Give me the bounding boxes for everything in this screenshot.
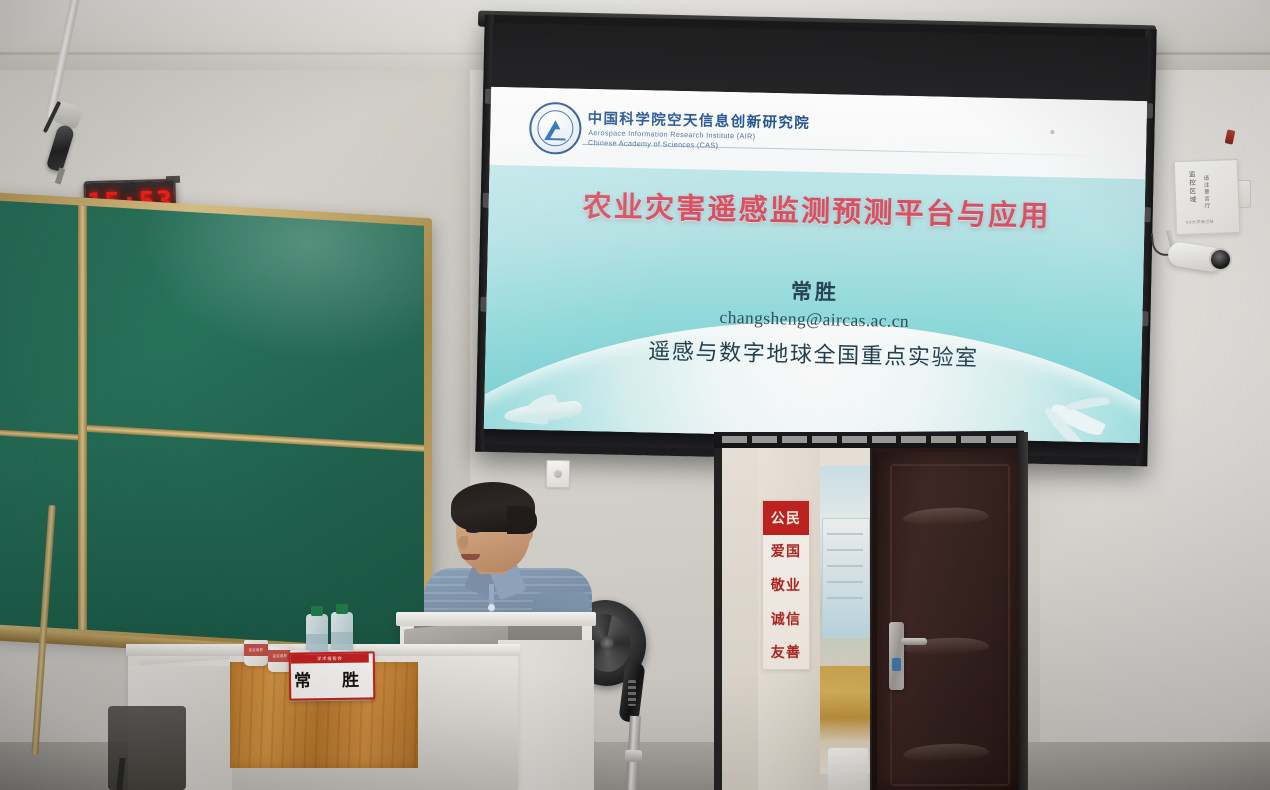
corridor-board-line [827,549,863,551]
presenter-mouth [461,554,480,560]
wall-notice-line1: 监控区域 [1185,170,1196,204]
wooden-door[interactable] [872,448,1023,790]
corridor-board-line [827,533,863,535]
cup-label: 会议用杯 [244,644,268,656]
nameplate-header-band: 学术报告会 [291,653,369,663]
transom-pane [812,436,837,443]
door-lock-plate[interactable] [889,622,904,690]
corridor-bin [828,748,868,790]
presenter-shirt-button [488,604,495,611]
presentation-slide: 中国科学院空天信息创新研究院 Aerospace Information Res… [484,87,1147,443]
door-jamb-right [1018,432,1028,790]
aircraft-icon-right [1028,395,1115,443]
nameplate-name-text: 常 胜 [291,665,369,691]
aircraft-wing-upper [1065,395,1110,412]
banner-value-2: 诚信 [763,602,809,636]
civic-values-banner: 公民 爱国 敬业 诚信 友善 [762,500,810,670]
presenter-hair [451,482,535,532]
presenter-nose [458,536,468,549]
corridor-board-line [827,581,863,583]
bottle-cap [336,604,348,614]
transom-pane [842,436,867,443]
organization-name-en-line2: Chinese Academy of Sciences (CAS) [588,138,718,150]
bottle-label [331,632,353,650]
door-handle[interactable] [901,638,927,645]
bottle-cap [311,606,323,616]
corridor-notice-board [822,518,870,638]
transom-pane [782,436,807,443]
transom-pane [722,436,747,443]
wall-notice-line3: XX大学保卫处 [1186,219,1214,226]
chalkboard-surface [0,200,424,650]
wall-notice-line2: 请注意言行 [1201,175,1210,210]
fan-control-buttons[interactable] [628,680,636,706]
banner-value-0: 爱国 [763,535,809,569]
fan-height-collar [625,750,643,763]
corridor-board-line [827,565,863,567]
transom-pane [931,436,956,443]
door-transom-panes [722,435,1016,444]
paper-cup: 会议用杯 [244,640,268,666]
nameplate-header-text: 学术报告会 [317,655,343,661]
transom-pane [901,436,926,443]
slide-corner-dot [1050,130,1054,134]
lectern-top-surface [396,612,596,626]
aircas-logo-triangle [544,120,566,140]
corridor-board-line [827,597,863,599]
slide-header: 中国科学院空天信息创新研究院 Aerospace Information Res… [490,87,1148,179]
door-keypad[interactable] [892,658,901,671]
aircas-logo-inner-ring [537,110,574,147]
transom-pane [752,436,777,443]
transom-pane [991,436,1016,443]
wall-notice-sign: 监控区域 请注意言行 XX大学保卫处 [1174,159,1241,235]
transom-pane [872,436,897,443]
presenter-eye [466,528,481,533]
chalkboard [0,192,432,659]
banner-title-cell: 公民 [763,501,809,535]
aircas-logo-icon [529,102,582,155]
cup-band: 会议用杯 [244,644,268,656]
lecture-hall-photo: 15:53 [0,0,1270,790]
wall-switch-button[interactable] [554,470,562,478]
bottle-label [306,634,328,652]
chalkboard-divider-vertical [78,205,87,630]
banner-value-3: 友善 [763,635,809,669]
transom-pane [961,436,986,443]
projection-screen: 中国科学院空天信息创新研究院 Aerospace Information Res… [475,15,1156,467]
screen-canvas: 中国科学院空天信息创新研究院 Aerospace Information Res… [484,87,1147,443]
chalkboard-frame [0,192,432,659]
banner-value-1: 敬业 [763,568,809,602]
desk-nameplate: 学术报告会 常 胜 [289,651,376,700]
